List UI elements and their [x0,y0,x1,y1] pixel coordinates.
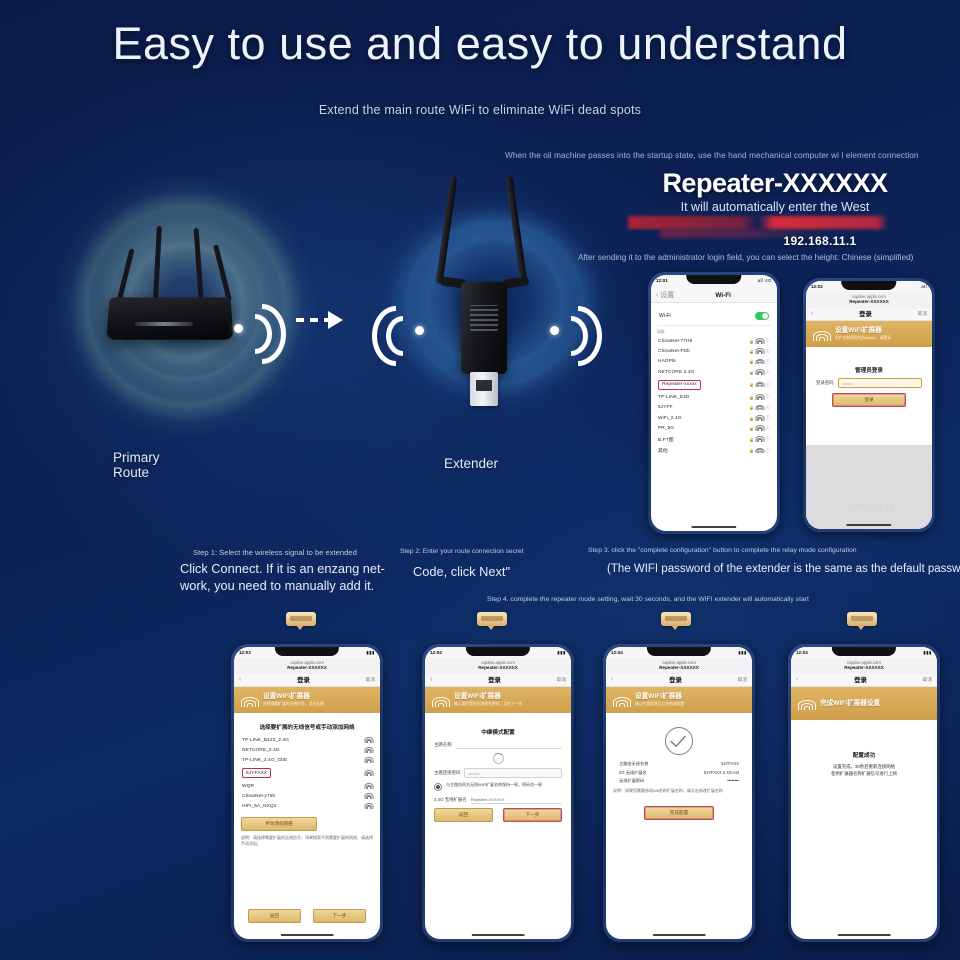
step1-caption: Click Connect. If it is an enzang net- w… [180,560,395,594]
orange-header-title: 完成WiFi扩展器设置 [820,700,930,708]
url-title: Repeater-XXXXXX [234,665,380,671]
extender-body-print [470,305,498,331]
wifi-network-row[interactable]: 5JYFF🔒ⓘ [657,402,771,412]
info-icon[interactable]: ⓘ [765,405,770,411]
info-icon[interactable]: ⓘ [765,349,770,355]
next-button[interactable]: 下一步 [313,909,366,923]
wifi-network-row[interactable]: TP-LINK_E4D🔒ⓘ [657,392,771,402]
wifi-network-row[interactable]: TP-LINK_2.4G_GbE [241,755,373,765]
wifi-icon [813,328,830,341]
next-button[interactable]: 下一步 [503,808,562,822]
signal-strength-icon [756,339,763,344]
status-time: 12:04 [611,650,623,655]
promo-banner: Easy to use and easy to understand Exten… [0,0,960,960]
orange-header-title: 设置WiFi扩展器 [835,327,925,335]
home-indicator [281,934,334,936]
wifi-network-name: B.FT图 [658,436,674,443]
wifi-network-name: TP-LINK_E4D [658,395,690,400]
info-icon[interactable]: ⓘ [765,338,770,344]
lock-icon: 🔒 [749,382,754,387]
back-button[interactable]: ‹ [611,676,613,683]
status-signal: ▮▮▮ [738,650,747,656]
phone-notch [275,647,339,656]
summary-value: •••••••• [727,778,739,784]
success-line-2: 使用扩展器名称扩展信号进行上网 [803,770,925,777]
info-icon[interactable]: ⓘ [765,436,770,442]
lock-icon: 🔒 [749,339,754,344]
wifi-network-row[interactable]: 其他🔒ⓘ [657,445,771,456]
url-title: Repeater-XXXXXX [606,665,752,671]
orange-header: 完成WiFi扩展器设置 [791,687,937,720]
orange-header-sub: 选择需要扩展的无线信号，点击连接 [263,701,373,707]
phone-notch [647,647,711,656]
wifi-network-row[interactable]: ChinaNet-FDb🔒ⓘ [657,346,771,356]
route-password-label: 主路连接密码 [434,770,460,776]
signal-strength-icon [756,448,763,453]
flow-arrow [296,305,352,335]
phone-top-login: 12:02 all captive.apple.com Repeater-XXX… [803,278,935,532]
same-name-checkbox[interactable] [434,783,442,791]
route-password-input[interactable]: •••••••• [464,768,562,778]
back-button[interactable]: ‹ [430,676,432,683]
phone-step4-complete: 12:04 ▮▮▮ captive.apple.com Repeater-XXX… [788,644,940,942]
step3-caption-small: Step 3. click the "complete configuratio… [588,547,857,554]
repeater-sub-label: It will automatically enter the West [610,200,940,214]
url-title: Repeater-XXXXXX [791,665,937,671]
signal-strength-icon [756,370,763,375]
repeater-ssid-label: Repeater-XXXXXX [610,168,940,199]
success-check-icon [665,727,693,755]
orange-header: 设置WiFi扩展器 确认扩展信息后点击完成配置 [606,687,752,713]
signal-strength-icon [365,794,372,799]
wifi-network-name: WiFi_2.4G [658,416,682,421]
url-title: Repeater-XXXXXX [425,665,571,671]
signal-strength-icon [756,416,763,421]
form-title: 管理员登录 [816,366,922,374]
home-indicator [691,526,736,528]
wifi-network-name: ChinaNet-y7s9 [242,794,275,799]
status-signal: ▮▮▮ [366,650,375,656]
info-icon[interactable]: ⓘ [765,382,770,388]
nav-bar: ‹ 登录 取消 [425,674,571,687]
cancel-button[interactable]: 取消 [918,311,927,317]
nav-title: 登录 [297,675,310,684]
same-name-checkbox-label: 与主路由同名无线WiFi扩展名称保持一致，密码也一致 [446,782,542,788]
nav-title: 登录 [669,675,682,684]
wifi-network-row[interactable]: TP-LINK_B120_2.4G [241,735,373,745]
browser-url-bar[interactable]: captive.apple.com Repeater-XXXXXX [791,658,937,674]
tooltip-badge-2 [477,612,507,626]
summary-value: 5JYFAXX [721,761,739,767]
wifi-network-name: PR_5G [658,426,674,431]
nav-title: 登录 [859,309,872,318]
cancel-button[interactable]: 取消 [557,677,566,683]
wifi-network-row[interactable]: HAGPtk🔒ⓘ [657,357,771,367]
redacted-red-text [628,216,888,229]
nav-title: 登录 [854,675,867,684]
back-button-bottom[interactable]: 返回 [434,808,493,822]
phone-step3-confirm: 12:04 ▮▮▮ captive.apple.com Repeater-XXX… [603,644,755,942]
step2-caption-small: Step 2: Enter your route connection secr… [400,548,524,555]
wifi-network-row[interactable]: ChinaNet-y7s9 [241,791,373,801]
step1-caption-small: Step 1: Select the wireless signal to be… [193,548,357,557]
wifi-network-name: TP-LINK_2.4G_GbE [242,758,287,763]
network-section-label: 网络 [657,330,771,335]
back-button-bottom[interactable]: 返回 [248,909,301,923]
nav-bar: ‹ 登录 取消 [234,674,380,687]
page-footer-gray [806,445,932,529]
wifi-network-row[interactable]: PR_5G🔒ⓘ [657,423,771,433]
url-title: Repeater-XXXXXX [806,299,932,305]
wifi-network-name: HAGPtk [658,359,676,364]
info-icon[interactable]: ⓘ [765,369,770,375]
status-time: 12:03 [239,650,251,655]
signal-strength-icon [365,804,372,809]
back-button[interactable]: ‹ [796,676,798,683]
orange-header: 设置WiFi扩展器 选择需要扩展的无线信号，点击连接 [234,687,380,713]
info-icon[interactable]: ⓘ [765,415,770,421]
wifi-network-name: 5JYFAXX [242,768,271,778]
wifi-network-row[interactable]: ChinaNet-77H9🔒ⓘ [657,336,771,346]
wifi-network-row[interactable]: B.FT图🔒ⓘ [657,434,771,445]
phone-step2-relay-config: 12:04 ▮▮▮ captive.apple.com Repeater-XXX… [422,644,574,942]
ext-name-input[interactable]: Repeater-XXXXXX [471,795,562,804]
wifi-network-row[interactable]: NETCORE_2.4G [241,745,373,755]
wifi-toggle[interactable] [755,312,769,320]
login-button[interactable]: 登录 [832,393,906,407]
router-body [106,297,233,339]
wifi-network-name: ChinaNet-FDb [658,349,690,354]
orange-header-sub: 确认扩展信息后点击完成配置 [635,701,745,707]
wifi-network-row[interactable]: NETCORE 3.4G🔒ⓘ [657,367,771,377]
wifi-network-row[interactable]: HIFI_5A_NXQ2 [241,801,373,811]
extender-usb-contacts [476,380,492,391]
router-brand-strip [135,322,193,326]
cancel-button[interactable]: 取消 [923,677,932,683]
wifi-network-name: 5JYFF [658,405,673,410]
status-signal: ▮▮▮ [923,650,932,656]
password-input[interactable]: •••••••• [838,378,922,388]
browser-url-bar[interactable]: captive.apple.com Repeater-XXXXXX [425,658,571,674]
status-time: 12:04 [796,650,808,655]
summary-list: 主路由无线名称5JYFAXX2G 无线扩展名5JYFAXX 2.4G-ext无线… [613,761,745,784]
primary-route-label-line2: Route [113,465,149,480]
lock-icon: 🔒 [749,359,754,364]
complete-config-button[interactable]: 完成配置 [644,806,715,820]
orange-header: 设置WiFi扩展器 用户名和密码均为admin，请登录 [806,321,932,347]
summary-key: 2G 无线扩展名 [619,770,647,776]
orange-header-title: 设置WiFi扩展器 [635,693,745,701]
tooltip-badge-1 [286,612,316,626]
tooltip-badge-4 [847,612,877,626]
browser-url-bar[interactable]: captive.apple.com Repeater-XXXXXX [806,292,932,308]
signal-strength-icon [365,758,372,763]
lock-icon: 🔒 [749,426,754,431]
signal-strength-icon [756,426,763,431]
primary-route-label: Primary Route [113,450,160,480]
tooltip-badge-3 [661,612,691,626]
signal-strength-icon [365,748,372,753]
lock-icon: 🔒 [749,416,754,421]
signal-strength-icon [756,349,763,354]
browser-url-bar[interactable]: captive.apple.com Repeater-XXXXXX [606,658,752,674]
wifi-icon [798,697,815,710]
lock-icon: 🔒 [749,349,754,354]
nav-bar: ‹ 登录 取消 [791,674,937,687]
wifi-network-name: NETCORE 3.4G [658,370,694,375]
home-indicator [838,934,891,936]
wifi-icon [241,694,258,707]
phone-step1-select-network: 12:03 ▮▮▮ captive.apple.com Repeater-XXX… [231,644,383,942]
wifi-network-row[interactable]: 5JYFAXX [241,766,373,781]
orange-header-sub: 用户名和密码均为admin，请登录 [835,335,925,341]
wifi-toggle-label: Wi-Fi [659,313,671,319]
nav-bar: ‹ 设置 Wi-Fi [651,286,777,303]
nav-bar: ‹ 登录 取消 [606,674,752,687]
home-indicator [472,934,525,936]
phone-notch [832,647,896,656]
route-name-label: 主路名称 [434,742,452,748]
info-bottom-line: After sending it to the administrator lo… [578,253,960,262]
list-note: 说明：请选择需要扩展的无线信号，如果搜索不到需要扩展的网络，请选择手动添加。 [241,835,373,847]
status-signal: ▮▮▮ [557,650,566,656]
wifi-network-row[interactable]: WiFi_2.4G🔒ⓘ [657,413,771,423]
wifi-icon [613,694,630,707]
info-icon[interactable]: ⓘ [765,394,770,400]
nav-bar: ‹ 登录 取消 [806,308,932,321]
back-button[interactable]: ‹ 设置 [656,290,674,300]
router-wifi-waves [232,300,290,356]
summary-row: 主路由无线名称5JYFAXX [619,761,739,767]
signal-strength-icon [756,437,763,442]
orange-header-sub: 输入要扩展的无线信号密码，点击下一步 [454,701,564,707]
browser-url-bar[interactable]: captive.apple.com Repeater-XXXXXX [234,658,380,674]
lock-icon: 🔒 [749,395,754,400]
info-icon[interactable]: ⓘ [765,448,770,454]
step4-caption-small: Step 4. complete the repeater mode setti… [487,596,809,603]
summary-key: 主路由无线名称 [619,761,648,767]
wifi-network-name: Repeater-xxxxx [658,380,701,390]
nav-title: 登录 [488,675,501,684]
lock-icon: 🔒 [749,370,754,375]
password-field-label: 登录密码 [816,380,834,386]
wifi-icon [432,694,449,707]
phone-notch [841,281,896,290]
status-signal: all [921,284,927,289]
page-title: Easy to use and easy to understand [0,18,960,70]
loading-spinner [493,753,504,764]
ext-name-label: 2.4G 无线扩展名 [434,797,467,803]
home-indicator [653,934,706,936]
watermark: Central () [806,497,932,513]
info-top-line: When the oil machine passes into the sta… [505,151,960,160]
list-title: 选择要扩展的无线信号或手动添加网络 [241,723,373,731]
signal-strength-icon [756,359,763,364]
wifi-network-row[interactable]: Repeater-xxxxx🔒ⓘ [657,378,771,393]
signal-strength-icon [365,738,372,743]
page-subtitle: Extend the main route WiFi to eliminate … [0,103,960,117]
wifi-network-list: ChinaNet-77H9🔒ⓘChinaNet-FDb🔒ⓘHAGPtk🔒ⓘNET… [657,336,771,456]
wifi-network-row[interactable]: WQR [241,781,373,791]
form-title: 中继模式配置 [434,728,562,736]
extender-wifi-waves-left [368,302,426,358]
lock-icon: 🔒 [749,448,754,453]
signal-strength-icon [365,784,372,789]
orange-header-title: 设置WiFi扩展器 [263,693,373,701]
cancel-button[interactable]: 取消 [738,677,747,683]
home-indicator [846,524,891,526]
ip-address-label: 192.168.11.1 [700,234,940,248]
wifi-network-list: TP-LINK_B120_2.4GNETCORE_2.4GTP-LINK_2.4… [241,735,373,812]
signal-strength-icon [756,405,763,410]
cancel-button[interactable]: 取消 [366,677,375,683]
wifi-network-name: ChinaNet-77H9 [658,339,692,344]
step3-caption: (The WIFI password of the extender is th… [607,561,957,578]
info-icon[interactable]: ⓘ [765,359,770,365]
nav-title: Wi-Fi [715,292,731,299]
step2-caption: Code, click Next" [413,563,593,580]
route-name-input[interactable] [456,740,562,749]
wifi-network-name: HIFI_5A_NXQ2 [242,804,277,809]
status-time: 12:04 [430,650,442,655]
success-title: 配置成功 [803,751,925,759]
lock-icon: 🔒 [749,437,754,442]
signal-strength-icon [365,771,372,776]
summary-value: 5JYFAXX 2.4G-ext [704,770,739,776]
phone-notch [686,275,741,284]
primary-route-label-line1: Primary [113,450,160,465]
signal-strength-icon [756,382,763,387]
wifi-network-name: NETCORE_2.4G [242,748,280,753]
manual-add-button[interactable]: 手动添加网络 [241,817,317,831]
summary-row: 2G 无线扩展名5JYFAXX 2.4G-ext [619,770,739,776]
orange-header-title: 设置WiFi扩展器 [454,693,564,701]
back-button[interactable]: ‹ [239,676,241,683]
back-button[interactable]: ‹ [811,310,813,317]
info-icon[interactable]: ⓘ [765,425,770,431]
summary-note: 说明：如果您需要修改wifi名称扩展名称，请点击修改扩展名称 [613,788,745,794]
signal-strength-icon [756,395,763,400]
lock-icon: 🔒 [749,405,754,410]
success-line-1: 设置完成，30秒后重新连接网络 [803,763,925,770]
status-time: 12:01 [656,278,668,283]
summary-row: 无线扩展密码•••••••• [619,778,739,784]
extender-label: Extender [444,456,498,471]
wifi-network-name: TP-LINK_B120_2.4G [242,738,289,743]
extender-wifi-waves-right [548,302,606,358]
phone-top-wifi-list: 12:01 all 4G ‹ 设置 Wi-Fi Wi-Fi 网络 ChinaNe… [648,272,780,534]
orange-header: 设置WiFi扩展器 输入要扩展的无线信号密码，点击下一步 [425,687,571,713]
summary-key: 无线扩展密码 [619,778,644,784]
wifi-network-name: 其他 [658,447,668,454]
phone-notch [466,647,530,656]
status-signal: all 4G [758,278,772,283]
wifi-network-name: WQR [242,784,254,789]
status-time: 12:02 [811,284,823,289]
